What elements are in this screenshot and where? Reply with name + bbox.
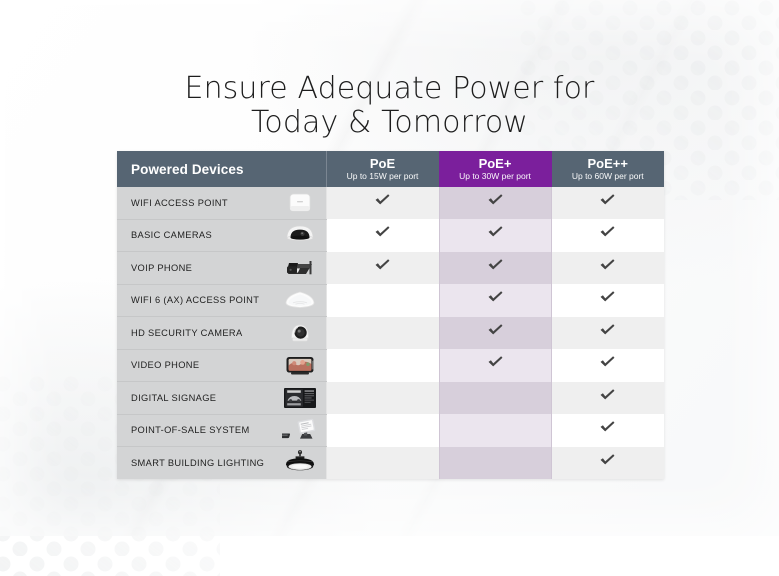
check-icon bbox=[374, 192, 391, 209]
device-cell: VOIP PHONE bbox=[117, 252, 326, 285]
table-row: POINT-OF-SALE SYSTEM bbox=[117, 414, 664, 447]
check-icon bbox=[599, 452, 616, 469]
device-cell: DIGITAL SIGNAGE bbox=[117, 382, 326, 415]
check-icon bbox=[487, 192, 504, 209]
support-cell-poe bbox=[326, 382, 439, 415]
device-label: VIDEO PHONE bbox=[131, 360, 199, 370]
header-poe-plus-plus-title: PoE++ bbox=[552, 157, 665, 171]
support-cell-poe bbox=[326, 447, 439, 479]
table-row: HD SECURITY CAMERA bbox=[117, 317, 664, 350]
check-icon bbox=[374, 257, 391, 274]
device-cell: HD SECURITY CAMERA bbox=[117, 317, 326, 350]
check-icon bbox=[599, 322, 616, 339]
device-label: WIFI 6 (AX) ACCESS POINT bbox=[131, 295, 259, 305]
device-label: DIGITAL SIGNAGE bbox=[131, 393, 216, 403]
header-poe-plus-plus-subtitle: Up to 60W per port bbox=[552, 172, 665, 181]
header-column-poe-plus-plus: PoE++ Up to 60W per port bbox=[551, 151, 664, 187]
table-row: DIGITAL SIGNAGE bbox=[117, 382, 664, 415]
device-cell: SMART BUILDING LIGHTING bbox=[117, 447, 326, 479]
device-label: SMART BUILDING LIGHTING bbox=[131, 458, 264, 468]
device-cell: POINT-OF-SALE SYSTEM bbox=[117, 414, 326, 447]
support-cell-poe-plus-plus bbox=[551, 349, 664, 382]
support-cell-poe bbox=[326, 187, 439, 219]
header-poe-title: PoE bbox=[327, 157, 439, 171]
device-cell: BASIC CAMERAS bbox=[117, 219, 326, 252]
device-label: BASIC CAMERAS bbox=[131, 230, 212, 240]
header-powered-devices: Powered Devices bbox=[117, 151, 326, 187]
header-poe-subtitle: Up to 15W per port bbox=[327, 172, 439, 181]
device-cell: WIFI 6 (AX) ACCESS POINT bbox=[117, 284, 326, 317]
support-cell-poe-plus bbox=[439, 219, 551, 252]
check-icon bbox=[487, 224, 504, 241]
wifi6-access-point-icon bbox=[282, 287, 318, 313]
check-icon bbox=[599, 257, 616, 274]
table-row: BASIC CAMERAS bbox=[117, 219, 664, 252]
table-row: WIFI ACCESS POINT bbox=[117, 187, 664, 219]
support-cell-poe-plus-plus bbox=[551, 252, 664, 285]
dome-camera-icon bbox=[282, 222, 318, 248]
table-row: SMART BUILDING LIGHTING bbox=[117, 447, 664, 479]
support-cell-poe-plus bbox=[439, 382, 551, 415]
table-header: Powered Devices PoE Up to 15W per port P… bbox=[117, 151, 664, 187]
check-icon bbox=[599, 224, 616, 241]
check-icon bbox=[487, 322, 504, 339]
support-cell-poe-plus bbox=[439, 187, 551, 219]
support-cell-poe-plus-plus bbox=[551, 382, 664, 415]
header-poe-plus-title: PoE+ bbox=[440, 157, 551, 171]
wifi-access-point-icon bbox=[282, 190, 318, 216]
table-row: VIDEO PHONE bbox=[117, 349, 664, 382]
poe-comparison-table: Powered Devices PoE Up to 15W per port P… bbox=[117, 151, 664, 479]
support-cell-poe-plus bbox=[439, 284, 551, 317]
check-icon bbox=[599, 419, 616, 436]
device-label: VOIP PHONE bbox=[131, 263, 192, 273]
support-cell-poe-plus bbox=[439, 414, 551, 447]
table-row: WIFI 6 (AX) ACCESS POINT bbox=[117, 284, 664, 317]
support-cell-poe-plus-plus bbox=[551, 187, 664, 219]
check-icon bbox=[599, 354, 616, 371]
device-label: HD SECURITY CAMERA bbox=[131, 328, 243, 338]
table-row: VOIP PHONE bbox=[117, 252, 664, 285]
point-of-sale-icon bbox=[282, 417, 318, 443]
support-cell-poe bbox=[326, 317, 439, 350]
support-cell-poe bbox=[326, 284, 439, 317]
support-cell-poe-plus-plus bbox=[551, 219, 664, 252]
device-label: WIFI ACCESS POINT bbox=[131, 198, 228, 208]
header-column-poe: PoE Up to 15W per port bbox=[326, 151, 439, 187]
voip-desk-phone-icon bbox=[282, 255, 318, 281]
support-cell-poe-plus bbox=[439, 447, 551, 479]
turret-camera-icon bbox=[282, 320, 318, 346]
check-icon bbox=[487, 257, 504, 274]
high-bay-light-icon bbox=[282, 450, 318, 476]
support-cell-poe-plus bbox=[439, 349, 551, 382]
support-cell-poe-plus-plus bbox=[551, 447, 664, 479]
support-cell-poe-plus-plus bbox=[551, 414, 664, 447]
device-cell: WIFI ACCESS POINT bbox=[117, 187, 326, 219]
device-cell: VIDEO PHONE bbox=[117, 349, 326, 382]
support-cell-poe bbox=[326, 252, 439, 285]
video-phone-icon bbox=[282, 352, 318, 378]
header-column-poe-plus: PoE+ Up to 30W per port bbox=[439, 151, 551, 187]
device-label: POINT-OF-SALE SYSTEM bbox=[131, 425, 250, 435]
check-icon bbox=[374, 224, 391, 241]
support-cell-poe bbox=[326, 349, 439, 382]
support-cell-poe-plus-plus bbox=[551, 317, 664, 350]
support-cell-poe-plus bbox=[439, 252, 551, 285]
check-icon bbox=[599, 289, 616, 306]
digital-signage-icon bbox=[282, 385, 318, 411]
header-poe-plus-subtitle: Up to 30W per port bbox=[440, 172, 551, 181]
table-body: WIFI ACCESS POINTBASIC CAMERASVOIP PHONE… bbox=[117, 187, 664, 479]
support-cell-poe-plus-plus bbox=[551, 284, 664, 317]
check-icon bbox=[599, 192, 616, 209]
check-icon bbox=[487, 289, 504, 306]
poe-comparison-table-container: Powered Devices PoE Up to 15W per port P… bbox=[117, 151, 664, 479]
support-cell-poe-plus bbox=[439, 317, 551, 350]
support-cell-poe bbox=[326, 414, 439, 447]
support-cell-poe bbox=[326, 219, 439, 252]
check-icon bbox=[487, 354, 504, 371]
check-icon bbox=[599, 387, 616, 404]
page-title: Ensure Adequate Power for Today & Tomorr… bbox=[0, 72, 779, 140]
